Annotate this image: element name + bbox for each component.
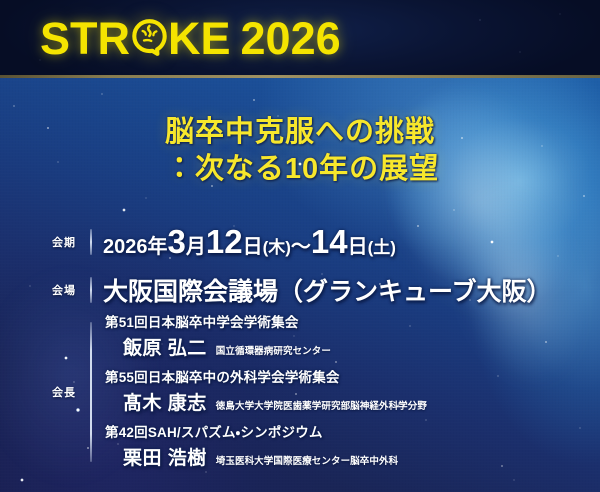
date-month-number: 3 <box>168 225 186 258</box>
chair-person: 栗田 浩樹 埼玉医科大学国際医療センター脳卒中外科 <box>105 443 427 470</box>
date-day-start: 12 <box>206 225 243 258</box>
page-title: 脳卒中克服への挑戦 ：次なる10年の展望 <box>0 114 600 188</box>
chair-person: 飯原 弘二 国立循環器病研究センター <box>105 333 427 360</box>
chairs-list: 第51回日本脳卒中学会学術集会 飯原 弘二 国立循環器病研究センター 第55回日… <box>105 314 427 470</box>
stroke-2026-logo: STR KE 2026 <box>40 13 341 63</box>
date-row: 会期 2026年 3 月 12 日 (木) 〜 14 日 (土) <box>52 225 396 258</box>
chair-affiliation: 徳島大学大学院医歯薬学研究部脳神経外科学分野 <box>216 398 427 412</box>
date-month-unit: 月 <box>186 237 206 257</box>
venue-label: 会場 <box>52 282 90 298</box>
date-value: 2026年 3 月 12 日 (木) 〜 14 日 (土) <box>103 225 396 258</box>
chair-meeting-name: 第42回SAH/スパズム・シンポジウム <box>105 424 427 442</box>
logo-year: 2026 <box>241 16 341 61</box>
chair-name: 飯原 弘二 <box>123 333 207 360</box>
venue-row-divider <box>90 277 92 303</box>
date-label: 会期 <box>52 234 90 250</box>
logo-text-segment-a: STR <box>40 16 130 61</box>
venue-row: 会場 大阪国際会議場（グランキューブ大阪） <box>52 272 552 308</box>
date-day-unit-start: 日 <box>243 237 263 257</box>
gold-divider-rule <box>0 75 600 78</box>
headline-line-1: 脳卒中克服への挑戦 <box>0 114 600 151</box>
chairs-section-divider <box>90 322 92 462</box>
brain-o-icon <box>131 19 167 57</box>
date-row-divider <box>90 229 92 255</box>
date-day-end: 14 <box>311 225 348 258</box>
chair-person: 髙木 康志 徳島大学大学院医歯薬学研究部脳神経外科学分野 <box>105 388 427 415</box>
banner-content: 脳卒中克服への挑戦 ：次なる10年の展望 会期 2026年 3 月 12 日 (… <box>0 76 600 492</box>
conference-banner: STR KE 2026 脳卒中克服への挑戦 <box>0 0 600 492</box>
chair-meeting-name: 第55回日本脳卒中の外科学会学術集会 <box>105 369 427 387</box>
chairs-label: 会長 <box>52 384 90 400</box>
chair-affiliation: 埼玉医科大学国際医療センター脳卒中外科 <box>216 453 398 467</box>
logo-wordmark: STR KE 2026 <box>40 16 341 61</box>
chair-meeting-name: 第51回日本脳卒中学会学術集会 <box>105 314 427 332</box>
date-day-unit-end: 日 <box>348 237 368 257</box>
chair-name: 髙木 康志 <box>123 388 207 415</box>
list-item: 第51回日本脳卒中学会学術集会 飯原 弘二 国立循環器病研究センター <box>105 314 427 360</box>
date-weekday-start: (木) <box>263 239 291 256</box>
list-item: 第42回SAH/スパズム・シンポジウム 栗田 浩樹 埼玉医科大学国際医療センター… <box>105 424 427 470</box>
date-range-mark: 〜 <box>291 237 311 257</box>
headline-line-2: ：次なる10年の展望 <box>0 151 600 188</box>
chairs-section: 会長 第51回日本脳卒中学会学術集会 飯原 弘二 国立循環器病研究センター 第5… <box>52 314 427 470</box>
chair-name: 栗田 浩樹 <box>123 443 207 470</box>
date-year: 2026年 <box>103 237 168 257</box>
list-item: 第55回日本脳卒中の外科学会学術集会 髙木 康志 徳島大学大学院医歯薬学研究部脳… <box>105 369 427 415</box>
date-weekday-end: (土) <box>368 239 396 256</box>
logo-text-segment-b: KE <box>168 16 231 61</box>
chair-affiliation: 国立循環器病研究センター <box>216 343 331 357</box>
venue-value: 大阪国際会議場（グランキューブ大阪） <box>103 272 552 308</box>
